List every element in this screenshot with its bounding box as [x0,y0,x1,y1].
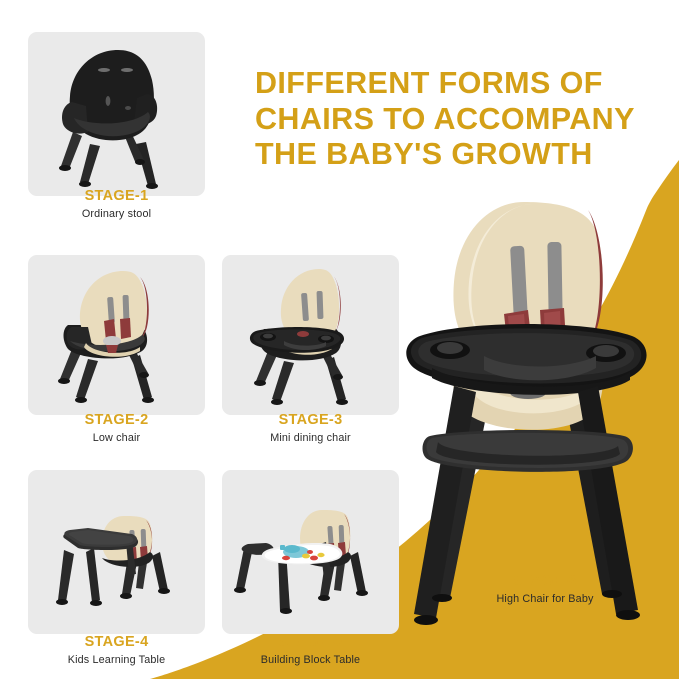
mini-dining-chair-with-tray-icon [222,255,399,415]
page-title: DIFFERENT FORMS OF CHAIRS TO ACCOMPANY T… [255,66,655,173]
stage-1-label: STAGE-1 [28,188,205,204]
headline-line-2: CHAIRS TO ACCOMPANY [255,102,655,138]
stage-card-5[interactable] [222,470,399,634]
building-block-table-icon [222,470,399,634]
stage-6-description: High Chair for Baby [430,593,660,605]
headline-line-1: DIFFERENT FORMS OF [255,66,655,102]
stage-6-label: STAGE-6 [430,573,660,589]
stage-4-description: Kids Learning Table [28,654,205,666]
stage-2-description: Low chair [28,432,205,444]
stage-card-3[interactable] [222,255,399,415]
stage-4-label: STAGE-4 [28,634,205,650]
low-chair-with-cushion-icon [28,255,205,415]
infographic-root: DIFFERENT FORMS OF CHAIRS TO ACCOMPANY T… [0,0,679,679]
headline-line-3: THE BABY'S GROWTH [255,137,655,173]
stage-2-label: STAGE-2 [28,412,205,428]
stage-card-4[interactable] [28,470,205,634]
kids-learning-table-icon [28,470,205,634]
stage-card-2[interactable] [28,255,205,415]
stage-3-description: Mini dining chair [222,432,399,444]
stage-1-description: Ordinary stool [28,208,205,220]
stage-5-description: Building Block Table [222,654,399,666]
black-plastic-stool-icon [28,32,205,196]
stage-5-label: STAGE-5 [222,634,399,650]
stage-card-1[interactable] [28,32,205,196]
stage-3-label: STAGE-3 [222,412,399,428]
